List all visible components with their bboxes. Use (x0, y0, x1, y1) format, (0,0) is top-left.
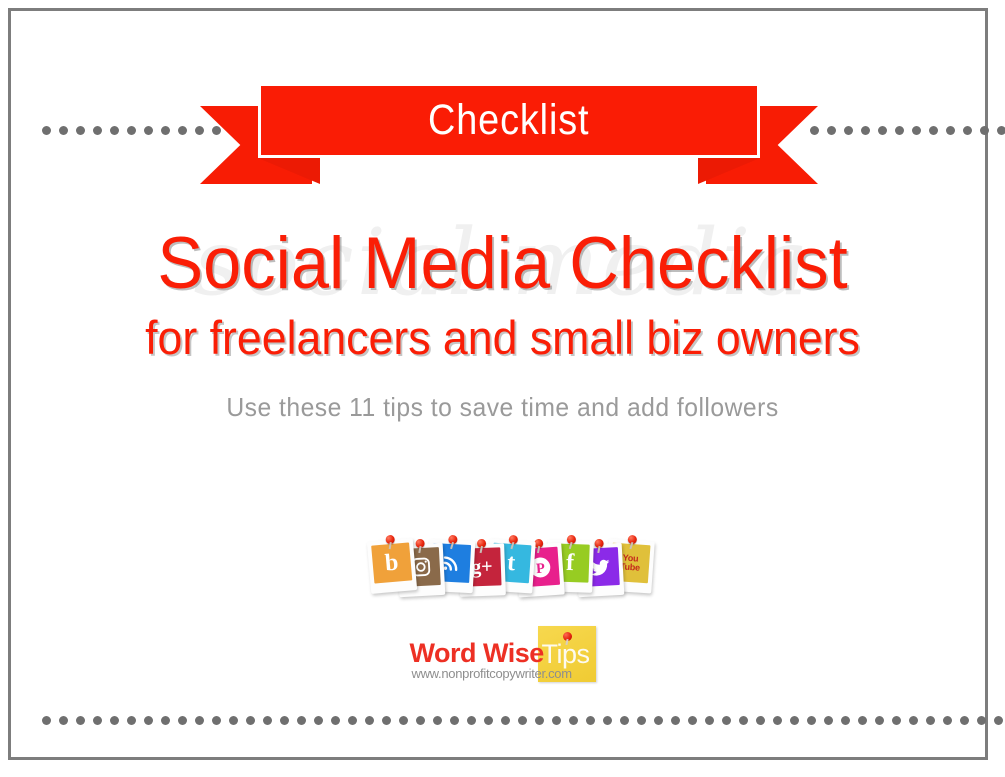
brand-website-url[interactable]: www.nonprofitcopywriter.com (412, 666, 596, 681)
decorative-dot (892, 716, 901, 725)
decorative-dot (861, 126, 870, 135)
decorative-dot (909, 716, 918, 725)
decorative-dot (42, 126, 51, 135)
ribbon-center-panel: Checklist (258, 83, 760, 158)
page-title: Social Media Checklist (30, 225, 975, 304)
blogger-icon[interactable]: b (366, 538, 416, 594)
decorative-dot (878, 126, 887, 135)
decorative-dot (484, 716, 493, 725)
decorative-dot (433, 716, 442, 725)
decorative-dot (144, 126, 153, 135)
decorative-dot (127, 716, 136, 725)
decorative-dot (994, 716, 1003, 725)
decorative-dot (929, 126, 938, 135)
decorative-dot (688, 716, 697, 725)
dotted-rule-bottom (42, 714, 1005, 726)
checklist-cover-page: Checklist social media Social Media Chec… (0, 0, 1005, 777)
decorative-dot (110, 716, 119, 725)
decorative-dot (637, 716, 646, 725)
decorative-dot (42, 716, 51, 725)
decorative-dot (127, 126, 136, 135)
ribbon-banner: Checklist (200, 80, 818, 185)
social-icon-strip: bg+tPfYouTube (0, 532, 1005, 602)
pushpin-icon (508, 535, 518, 545)
decorative-dot (212, 716, 221, 725)
decorative-dot (603, 716, 612, 725)
decorative-dot (382, 716, 391, 725)
decorative-dot (501, 716, 510, 725)
decorative-dot (858, 716, 867, 725)
decorative-dot (161, 716, 170, 725)
decorative-dot (263, 716, 272, 725)
decorative-dot (980, 126, 989, 135)
decorative-dot (76, 716, 85, 725)
decorative-dot (144, 716, 153, 725)
pushpin-icon (476, 539, 485, 548)
decorative-dot (229, 716, 238, 725)
brand-logo[interactable]: Word Wise Tips www.nonprofitcopywriter.c… (410, 622, 596, 684)
decorative-dot (997, 126, 1005, 135)
decorative-dot (739, 716, 748, 725)
page-subtitle: for freelancers and small biz owners (25, 312, 980, 364)
decorative-dot (977, 716, 986, 725)
decorative-dot (827, 126, 836, 135)
decorative-dot (535, 716, 544, 725)
decorative-dot (416, 716, 425, 725)
decorative-dot (912, 126, 921, 135)
decorative-dot (773, 716, 782, 725)
brand-logo-block[interactable]: Word Wise Tips www.nonprofitcopywriter.c… (0, 622, 1005, 692)
pushpin-icon (594, 539, 603, 548)
decorative-dot (331, 716, 340, 725)
decorative-dot (671, 716, 680, 725)
decorative-dot (963, 126, 972, 135)
svg-text:P: P (534, 560, 544, 577)
decorative-dot (280, 716, 289, 725)
pushpin-icon (385, 535, 395, 545)
pushpin-icon (415, 539, 424, 548)
decorative-dot (807, 716, 816, 725)
decorative-dot (895, 126, 904, 135)
decorative-dot (790, 716, 799, 725)
blogger-icon-glyph: b (384, 550, 399, 575)
decorative-dot (705, 716, 714, 725)
decorative-dot (93, 126, 102, 135)
decorative-dot (59, 716, 68, 725)
decorative-dot (654, 716, 663, 725)
pushpin-icon (448, 535, 457, 544)
decorative-dot (110, 126, 119, 135)
decorative-dot (59, 126, 68, 135)
decorative-dot (314, 716, 323, 725)
decorative-dot (620, 716, 629, 725)
decorative-dot (841, 716, 850, 725)
decorative-dot (246, 716, 255, 725)
social-icon-row: bg+tPfYouTube (369, 532, 637, 602)
decorative-dot (756, 716, 765, 725)
decorative-dot (722, 716, 731, 725)
facebook-icon-glyph: f (565, 551, 574, 575)
decorative-dot (93, 716, 102, 725)
pushpin-icon (566, 535, 575, 544)
blogger-icon-tile: b (371, 542, 412, 583)
decorative-dot (960, 716, 969, 725)
pushpin-icon (627, 535, 637, 545)
decorative-dot (161, 126, 170, 135)
tumblr-icon-glyph: t (506, 551, 516, 575)
decorative-dot (76, 126, 85, 135)
decorative-dot (178, 716, 187, 725)
decorative-dot (824, 716, 833, 725)
decorative-dot (569, 716, 578, 725)
decorative-dot (926, 716, 935, 725)
decorative-dot (875, 716, 884, 725)
decorative-dot (943, 716, 952, 725)
decorative-dot (399, 716, 408, 725)
decorative-dot (467, 716, 476, 725)
brand-name: Word Wise (410, 638, 544, 669)
hero-block: social media Social Media Checklist for … (0, 225, 1005, 423)
page-tagline: Use these 11 tips to save time and add f… (25, 392, 980, 423)
decorative-dot (844, 126, 853, 135)
decorative-dot (946, 126, 955, 135)
decorative-dot (365, 716, 374, 725)
decorative-dot (586, 716, 595, 725)
decorative-dot (348, 716, 357, 725)
decorative-dot (518, 716, 527, 725)
ribbon-label: Checklist (428, 99, 589, 142)
dotted-rule-right (810, 124, 1005, 136)
decorative-dot (195, 716, 204, 725)
decorative-dot (552, 716, 561, 725)
decorative-dot (297, 716, 306, 725)
decorative-dot (450, 716, 459, 725)
brand-name-tips: Tips (538, 641, 594, 668)
decorative-dot (178, 126, 187, 135)
